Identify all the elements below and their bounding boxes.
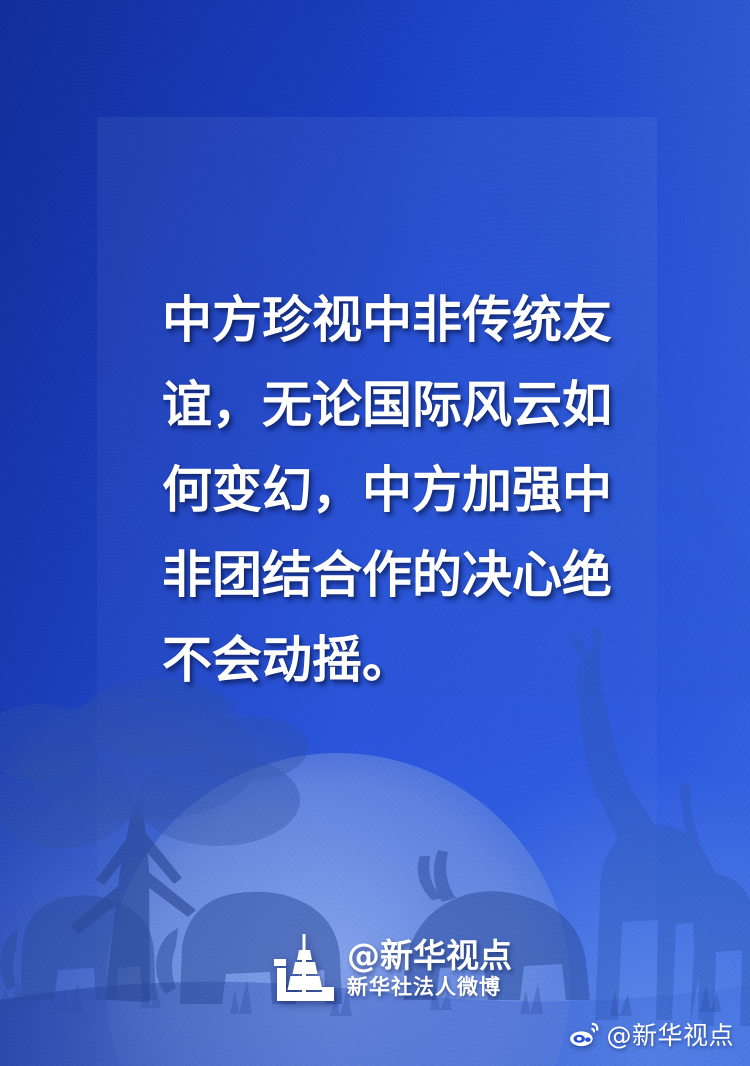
quote-block: 中方珍视中非传统友 谊，无论国际风云如 何变幻，中方加强中 非团结合作的决心绝 …: [162, 278, 612, 703]
quote-line-1: 中方珍视中非传统友: [162, 278, 612, 363]
xinhua-logo-mark: [272, 932, 338, 1004]
weibo-icon: [569, 1021, 599, 1047]
quote-line-2: 谊，无论国际风云如: [162, 363, 612, 448]
brand-lockup: @新华视点 新华社法人微博: [272, 932, 512, 1004]
quote-line-5: 不会动摇。: [162, 618, 612, 703]
quote-line-3: 何变幻，中方加强中: [162, 448, 612, 533]
weibo-watermark: @新华视点: [569, 1016, 734, 1052]
brand-text-block: @新华视点 新华社法人微博: [347, 938, 512, 999]
watermark-text: @新华视点: [606, 1016, 734, 1052]
brand-title: @新华视点: [347, 938, 512, 974]
brand-subtitle: 新华社法人微博: [347, 975, 512, 999]
poster-canvas: 中方珍视中非传统友 谊，无论国际风云如 何变幻，中方加强中 非团结合作的决心绝 …: [0, 0, 750, 1066]
quote-line-4: 非团结合作的决心绝: [162, 533, 612, 618]
